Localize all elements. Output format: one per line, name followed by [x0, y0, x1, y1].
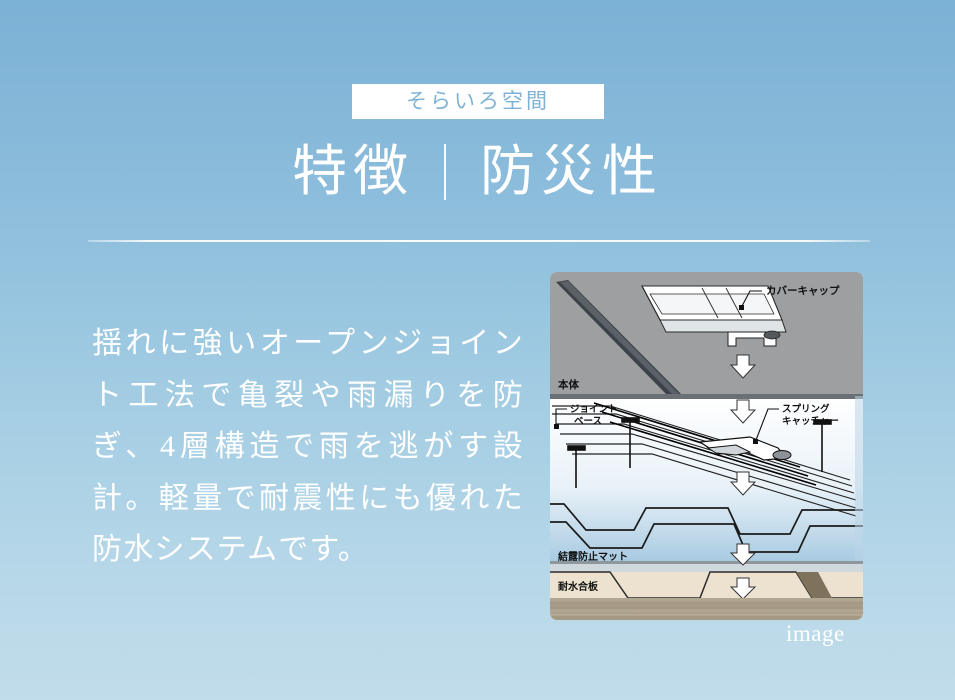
diagram-label-spring-catcher-line1: スプリング [782, 403, 830, 415]
diagram-label-plywood: 耐水合板 [558, 580, 599, 593]
diagram-label-joint-base-line1: ジョイント [570, 404, 618, 415]
diagram-label-joint-base-line2: ベース [574, 416, 602, 427]
page-title-left: 特徴 [292, 138, 414, 207]
diagram-label-spring-catcher-line2: キャッチャー [782, 416, 839, 427]
eyebrow-badge-label: そらいろ空間 [406, 91, 550, 112]
eyebrow-badge: そらいろ空間 [352, 84, 604, 119]
slide-root: そらいろ空間 特徴 防災性 揺れに強いオープンジョイント工法で亀裂や雨漏りを防ぎ… [0, 0, 955, 700]
product-diagram-panel: カバーキャップ 本体 [550, 272, 863, 620]
diagram-label-dew-mat: 結露防止マット [558, 550, 628, 563]
page-title-right: 防災性 [480, 138, 663, 207]
page-title: 特徴 防災性 [0, 138, 955, 207]
waterproofing-cutaway-diagram: カバーキャップ 本体 [550, 272, 863, 620]
diagram-label-cover-cap: カバーキャップ [766, 284, 840, 297]
diagram-label-body: 本体 [558, 378, 579, 391]
header-divider [88, 240, 870, 242]
body-paragraph: 揺れに強いオープンジョイント工法で亀裂や雨漏りを防ぎ、4層構造で雨を逃がす設計。… [92, 318, 524, 576]
image-caption: image [786, 620, 845, 648]
title-separator-bar [444, 144, 446, 200]
